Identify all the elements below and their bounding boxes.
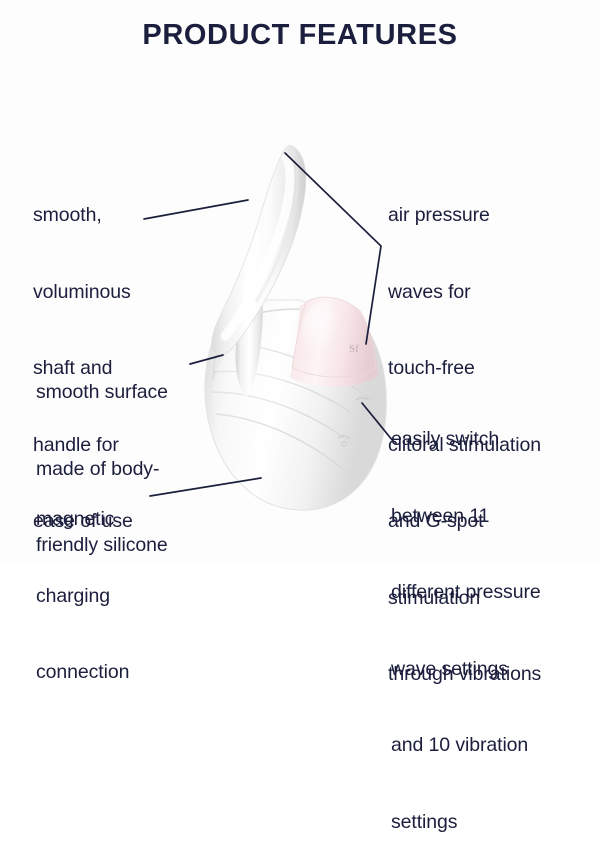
callout-line: and 10 vibration (391, 733, 541, 759)
callout-line: different pressure (391, 580, 541, 606)
callout-line: wave settings (391, 657, 541, 683)
callout-line: connection (36, 660, 129, 686)
product-head-pink: Sf (290, 297, 378, 387)
brand-logo-mark: Sf (349, 343, 359, 355)
callout-line: settings (391, 810, 541, 836)
product-illustration: Sf (0, 0, 600, 563)
callout-line: charging (36, 584, 129, 610)
